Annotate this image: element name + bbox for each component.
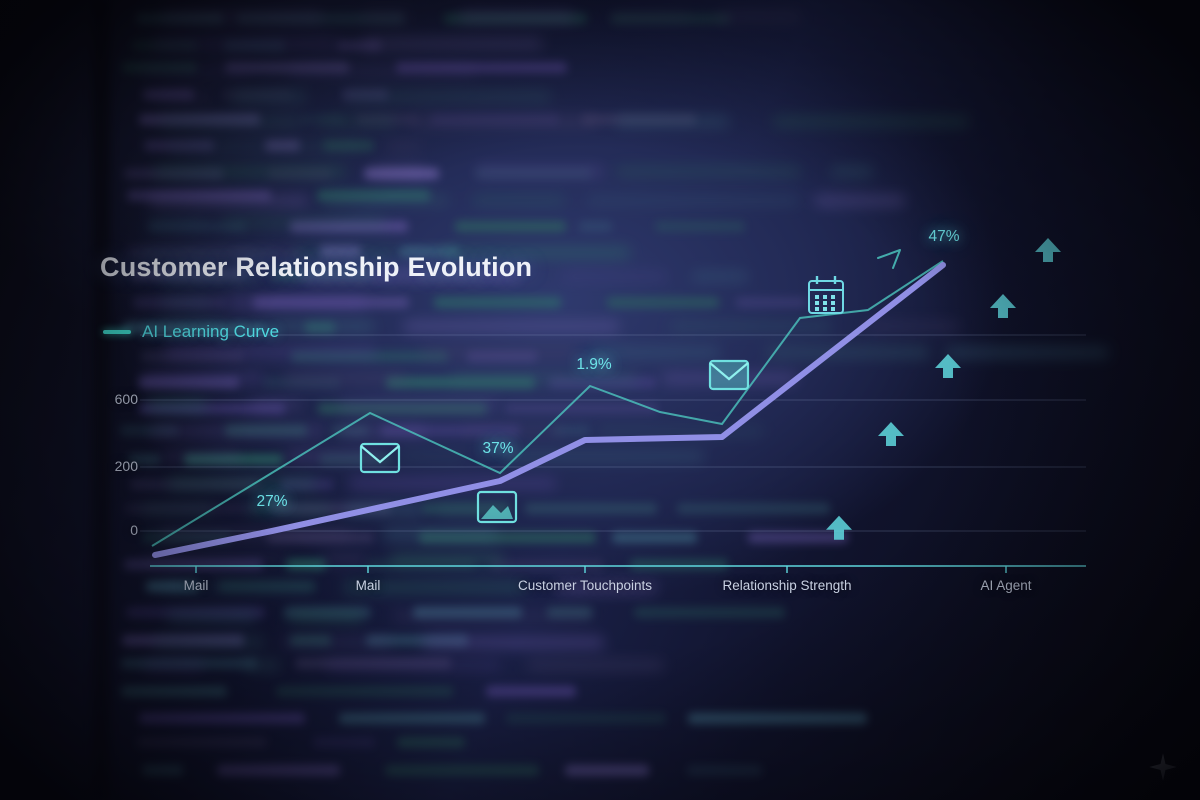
legend-item-label: AI Learning Curve (142, 322, 279, 342)
x-axis-tick-label: Mail (356, 578, 381, 593)
data-point-label: 37% (482, 440, 513, 458)
calendar-icon (809, 276, 843, 313)
chart-plot (0, 0, 1200, 800)
x-axis-tick-label: Mail (184, 578, 209, 593)
visualization-canvas: Customer Relationship Evolution AI Learn… (0, 0, 1200, 800)
y-axis-tick-label: 0 (92, 522, 138, 538)
x-axis-tick-label: Customer Touchpoints (518, 578, 652, 593)
data-point-label: 27% (256, 493, 287, 511)
data-point-label: 1.9% (576, 356, 611, 374)
page-title: Customer Relationship Evolution (100, 252, 532, 283)
y-axis-tick-label: 200 (92, 458, 138, 474)
chart-legend[interactable]: AI Learning Curve (103, 322, 279, 342)
data-point-label: 47% (928, 228, 959, 246)
legend-line-swatch (103, 330, 131, 334)
mail-icon (710, 361, 748, 389)
y-axis-tick-label: 600 (92, 391, 138, 407)
x-axis-tick-label: AI Agent (980, 578, 1031, 593)
mail-icon (361, 444, 399, 472)
sparkle-icon (1148, 752, 1178, 782)
chart-axis (150, 566, 1086, 573)
x-axis-tick-label: Relationship Strength (722, 578, 851, 593)
